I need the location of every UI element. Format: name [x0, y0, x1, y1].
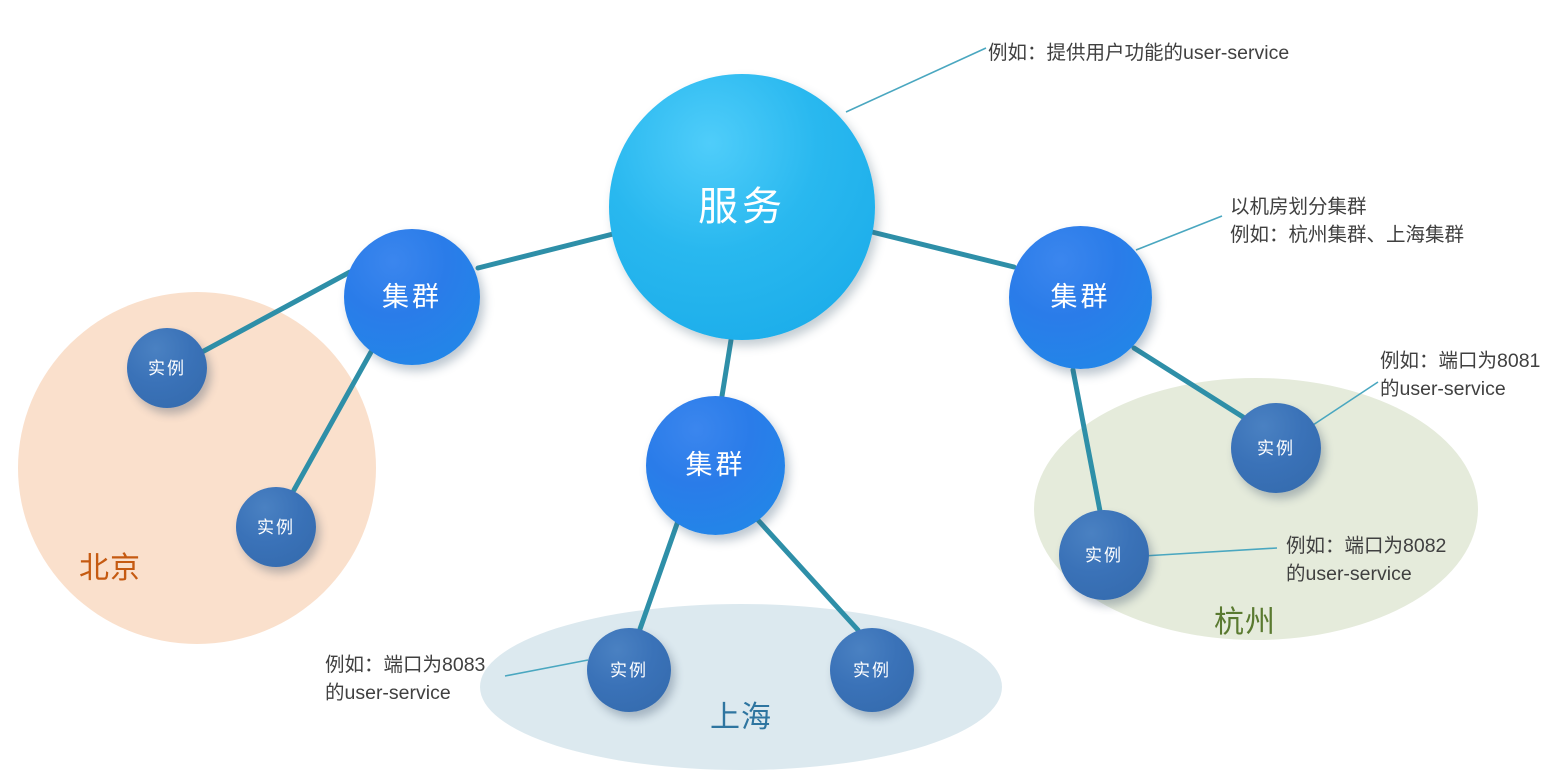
- node-cluster-shanghai-label: 集群: [686, 452, 746, 479]
- leader-cluster-annotation: [1136, 216, 1222, 250]
- node-instance-hangzhou-2[interactable]: 实例: [1059, 510, 1149, 600]
- node-instance-beijing-1-label: 实例: [148, 360, 186, 377]
- annotation-instance-8081: 例如：端口为8081 的user-service: [1380, 348, 1540, 403]
- node-instance-hangzhou-1[interactable]: 实例: [1231, 403, 1321, 493]
- annotation-instance-8083: 例如：端口为8083 的user-service: [325, 652, 485, 707]
- leader-instance-8081-annotation: [1313, 382, 1378, 425]
- region-shanghai-label: 上海: [710, 692, 772, 736]
- annotation-service: 例如：提供用户功能的user-service: [988, 40, 1289, 68]
- edge-cluster-hangzhou-instance-1: [1134, 348, 1243, 417]
- node-service[interactable]: 服务: [609, 74, 875, 340]
- region-hangzhou-label: 杭州: [1214, 597, 1276, 641]
- edge-service-cluster-shanghai: [722, 340, 731, 396]
- node-instance-shanghai-2-label: 实例: [853, 662, 891, 679]
- leader-instance-8083-annotation: [505, 660, 588, 676]
- node-service-label: 服务: [698, 187, 786, 227]
- node-instance-beijing-2-label: 实例: [257, 519, 295, 536]
- annotation-instance-8082: 例如：端口为8082 的user-service: [1286, 533, 1446, 588]
- edge-service-cluster-beijing: [478, 232, 621, 268]
- node-instance-shanghai-1[interactable]: 实例: [587, 628, 671, 712]
- edge-cluster-beijing-instance-2: [294, 352, 371, 490]
- node-instance-shanghai-2[interactable]: 实例: [830, 628, 914, 712]
- edge-cluster-beijing-instance-1: [202, 272, 350, 352]
- node-cluster-beijing-label: 集群: [382, 284, 442, 311]
- region-beijing-label: 北京: [79, 543, 141, 587]
- edge-cluster-shanghai-instance-2: [757, 519, 858, 630]
- edge-cluster-hangzhou-instance-2: [1073, 370, 1100, 511]
- annotation-cluster: 以机房划分集群 例如：杭州集群、上海集群: [1230, 194, 1464, 249]
- node-instance-shanghai-1-label: 实例: [610, 662, 648, 679]
- node-instance-beijing-2[interactable]: 实例: [236, 487, 316, 567]
- node-cluster-hangzhou-label: 集群: [1051, 284, 1111, 311]
- node-instance-beijing-1[interactable]: 实例: [127, 328, 207, 408]
- node-instance-hangzhou-1-label: 实例: [1257, 440, 1295, 457]
- edge-service-cluster-hangzhou: [872, 232, 1014, 267]
- edge-cluster-shanghai-instance-1: [640, 521, 678, 629]
- leader-service-annotation: [846, 48, 986, 112]
- leader-instance-8082-annotation: [1143, 548, 1277, 556]
- diagram-canvas: 北京 上海 杭州 服务 集群 集群 集群 实例 实例 实例 实例 实例 实例 例…: [0, 0, 1554, 770]
- node-cluster-shanghai[interactable]: 集群: [646, 396, 785, 535]
- node-cluster-beijing[interactable]: 集群: [344, 229, 480, 365]
- node-instance-hangzhou-2-label: 实例: [1085, 547, 1123, 564]
- node-cluster-hangzhou[interactable]: 集群: [1009, 226, 1152, 369]
